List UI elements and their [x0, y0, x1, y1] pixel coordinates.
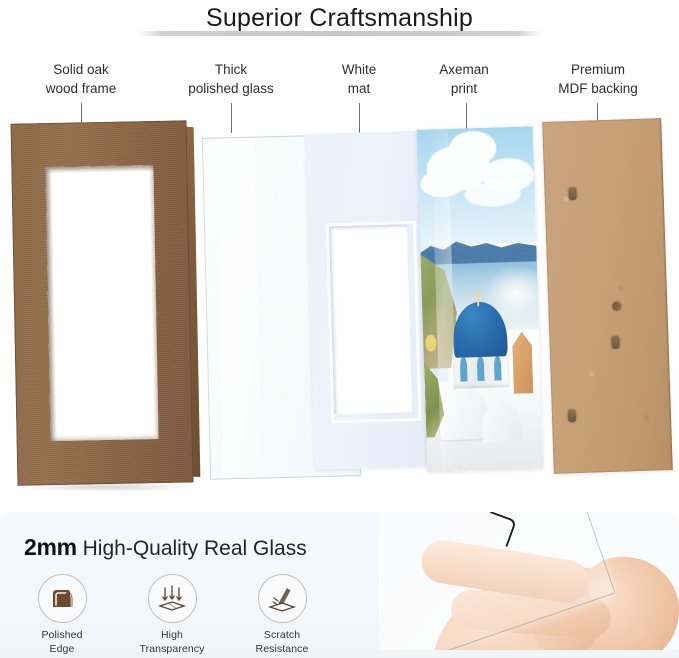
frame-front-face: [11, 120, 194, 485]
print-church-window: [493, 357, 501, 381]
layer-mdf-backing: [542, 118, 672, 474]
feature-label: High Transparency: [139, 629, 204, 656]
page-title: Superior Craftsmanship: [206, 6, 473, 31]
polished-edge-icon: [38, 574, 87, 623]
callout-label-mdf-backing: Premium MDF backing: [528, 60, 668, 98]
exploded-frame-diagram: [0, 110, 679, 500]
backing-clip: [568, 409, 576, 422]
photo-bottom-mask: [379, 650, 679, 658]
feature-label: Scratch Resistance: [256, 629, 309, 656]
scratch-resistance-icon: [258, 574, 307, 623]
mdf-front-face: [542, 118, 672, 474]
glass-sheen: [215, 138, 262, 479]
callout-label-glass: Thick polished glass: [158, 60, 304, 98]
glass-panel-headline: 2mm High-Quality Real Glass: [24, 536, 307, 559]
print-church-window: [460, 358, 468, 382]
layer-print: [417, 126, 544, 471]
print-church-window: [477, 357, 485, 381]
frame-drop-shadow: [18, 482, 198, 492]
feature-scratch-resistance: Scratch Resistance: [240, 574, 324, 656]
frame-opening: [45, 165, 158, 441]
callout-label-wood-frame: Solid oak wood frame: [14, 60, 148, 98]
title-underline-rule: [139, 31, 541, 36]
glass-thickness-value: 2mm: [24, 534, 77, 560]
glass-feature-list: Polished Edge High Transparency: [20, 574, 324, 656]
backing-clip: [568, 187, 576, 200]
layer-wood-frame: [11, 120, 200, 485]
frame-opening-inner: [51, 171, 154, 435]
print-yellow-accent: [425, 335, 436, 352]
glass-headline-rest: High-Quality Real Glass: [77, 537, 307, 560]
glass-info-panel: 2mm High-Quality Real Glass Polished Edg…: [0, 512, 679, 658]
feature-polished-edge: Polished Edge: [20, 574, 104, 656]
feature-label: Polished Edge: [41, 629, 82, 656]
hand-holding-glass-photo: [379, 512, 679, 658]
backing-clip: [611, 336, 619, 349]
callout-label-mat: White mat: [308, 60, 410, 98]
callout-label-print: Axeman print: [414, 60, 514, 98]
mat-bevel: [326, 221, 422, 423]
mat-window-opening: [329, 224, 412, 414]
backing-clip: [612, 302, 621, 311]
high-transparency-icon: [148, 574, 197, 623]
feature-high-transparency: High Transparency: [130, 574, 214, 656]
